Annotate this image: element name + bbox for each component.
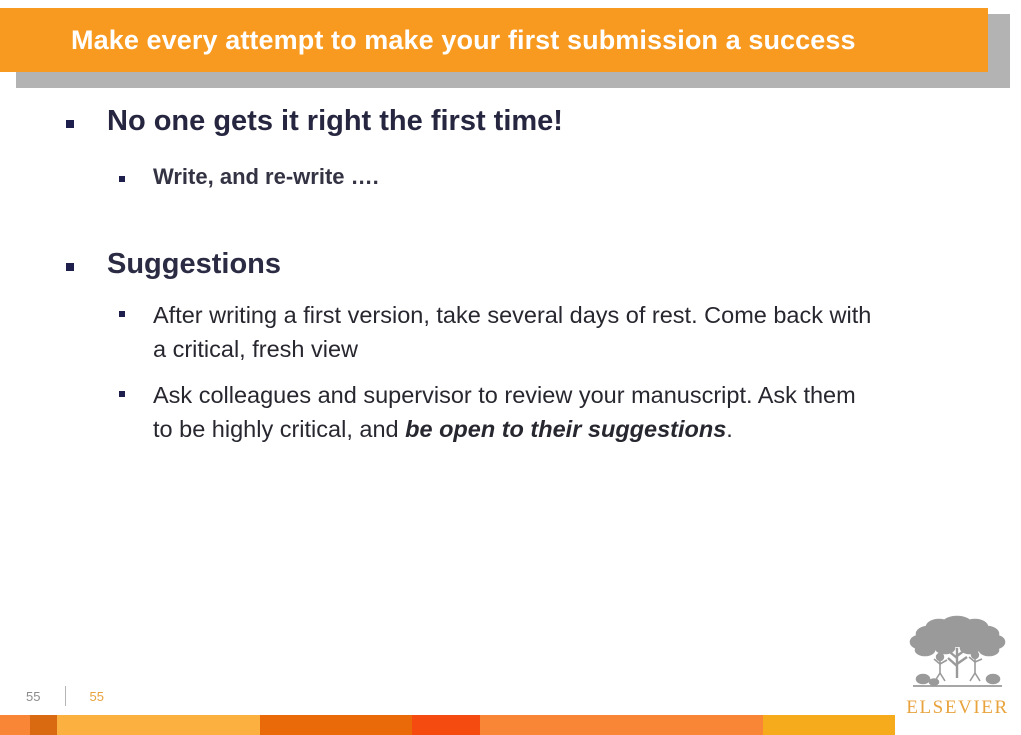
square-bullet-icon: [119, 391, 125, 397]
bullet-level2-text: Write, and re-write ….: [153, 164, 379, 190]
slide-body: No one gets it right the first time! Wri…: [0, 104, 1021, 447]
page-number: 55: [26, 689, 40, 704]
square-bullet-icon: [66, 120, 74, 128]
bullet-item-after-writing: After writing a first version, take seve…: [119, 299, 1021, 367]
slide-title: Make every attempt to make your first su…: [71, 25, 856, 56]
color-bar-segment-4: [260, 715, 412, 735]
elsevier-tree-icon: [901, 608, 1014, 696]
color-bar-segment-7: [763, 715, 895, 735]
bullet-level2-text-rich: Ask colleagues and supervisor to review …: [153, 379, 873, 447]
title-bar: Make every attempt to make your first su…: [0, 8, 988, 72]
bullet-item-suggestions: Suggestions: [66, 247, 1021, 281]
bullet-level1-text: Suggestions: [107, 247, 281, 281]
bullet-item-ask-colleagues: Ask colleagues and supervisor to review …: [119, 379, 1021, 447]
slide-root: { "slide": { "title": "Make every attemp…: [0, 0, 1021, 735]
color-bar-segment-1: [0, 715, 30, 735]
square-bullet-icon: [66, 263, 74, 271]
page-number-alt: 55: [89, 689, 103, 704]
text-run-plain-tail: .: [726, 416, 733, 442]
bullet-item-write-and-rewrite: Write, and re-write ….: [119, 164, 1021, 190]
color-bar-segment-3: [57, 715, 260, 735]
square-bullet-icon: [119, 176, 125, 182]
bullet-item-no-one-gets-it-right: No one gets it right the first time!: [66, 104, 1021, 138]
elsevier-wordmark: ELSEVIER: [901, 697, 1014, 719]
color-bar-segment-2: [30, 715, 57, 735]
footer-divider: [65, 686, 66, 706]
bullet-level1-text: No one gets it right the first time!: [107, 104, 563, 138]
elsevier-logo: ELSEVIER: [901, 608, 1014, 720]
text-run-emphasis: be open to their suggestions: [405, 416, 726, 442]
square-bullet-icon: [119, 311, 125, 317]
color-bar-segment-5: [412, 715, 480, 735]
footer-color-bar: [0, 715, 895, 735]
color-bar-segment-6: [480, 715, 763, 735]
footer-page-numbers: 55 55: [0, 686, 104, 706]
bullet-level2-text: After writing a first version, take seve…: [153, 299, 873, 367]
